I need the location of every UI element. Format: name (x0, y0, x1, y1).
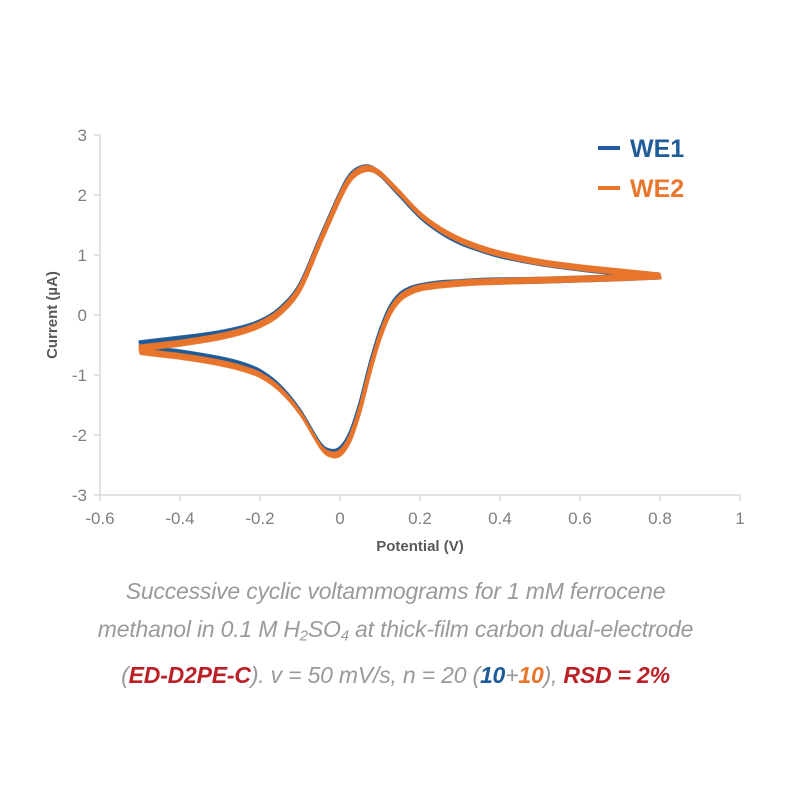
x-axis-ticks (100, 495, 740, 501)
x-tick-label: 0.8 (648, 509, 672, 528)
caption-line2-part-a: methanol in 0.1 M H (98, 616, 300, 642)
cv-trace-we2 (140, 277, 660, 456)
x-tick-label: -0.2 (245, 509, 274, 528)
chart-legend: WE1 WE2 (598, 135, 684, 203)
cv-trace-we2 (141, 279, 661, 458)
caption-n-we2: 10 (518, 662, 543, 688)
x-tick-label: 0.2 (408, 509, 432, 528)
x-axis-title: Potential (V) (376, 538, 464, 555)
y-tick-label: 2 (78, 186, 87, 205)
legend-label-we2: WE2 (630, 175, 684, 203)
x-tick-label: -0.4 (165, 509, 194, 528)
caption-rsd: RSD = 2% (563, 662, 669, 688)
cv-trace-we1 (140, 278, 660, 454)
caption-paren-close: ), (544, 662, 564, 688)
caption-subscript-2: 2 (300, 628, 308, 645)
x-tick-label: 0 (335, 509, 344, 528)
x-tick-label: 0.4 (488, 509, 512, 528)
caption-paren-open: ( (121, 662, 128, 688)
cv-trace-we1 (141, 279, 661, 455)
cv-traces (139, 165, 660, 457)
cv-trace-we2 (140, 278, 660, 457)
y-axis-ticks (94, 135, 100, 495)
y-tick-label: -3 (72, 486, 87, 505)
y-tick-label: -1 (72, 366, 87, 385)
caption-line-2: methanol in 0.1 M H2SO4 at thick-film ca… (0, 610, 791, 656)
y-tick-label: -2 (72, 426, 87, 445)
y-tick-label: 1 (78, 246, 87, 265)
y-tick-label: 0 (78, 306, 87, 325)
y-tick-label: 3 (78, 126, 87, 145)
caption-line3-mid: ). v = 50 mV/s, n = 20 ( (251, 662, 480, 688)
cv-trace-we2 (140, 277, 660, 456)
caption-line-3: (ED-D2PE-C). v = 50 mV/s, n = 20 (10+10)… (0, 656, 791, 694)
caption-subscript-4: 4 (341, 628, 349, 645)
caption-plus: + (505, 662, 518, 688)
x-tick-label: 0.6 (568, 509, 592, 528)
caption-line2-part-c: at thick-film carbon dual-electrode (349, 616, 693, 642)
caption-n-we1: 10 (480, 662, 505, 688)
caption-device-code: ED-D2PE-C (129, 662, 251, 688)
x-tick-label: 1 (735, 509, 744, 528)
x-tick-label: -0.6 (85, 509, 114, 528)
cyclic-voltammogram-figure: 3 2 1 0 -1 -2 -3 -0.6 -0.4 -0.2 0 0.2 0.… (0, 0, 791, 791)
figure-caption: Successive cyclic voltammograms for 1 mM… (0, 572, 791, 694)
y-axis-title: Current (µA) (44, 271, 61, 359)
caption-line2-part-b: SO (308, 616, 341, 642)
caption-line-1: Successive cyclic voltammograms for 1 mM… (0, 572, 791, 610)
legend-label-we1: WE1 (630, 135, 684, 163)
